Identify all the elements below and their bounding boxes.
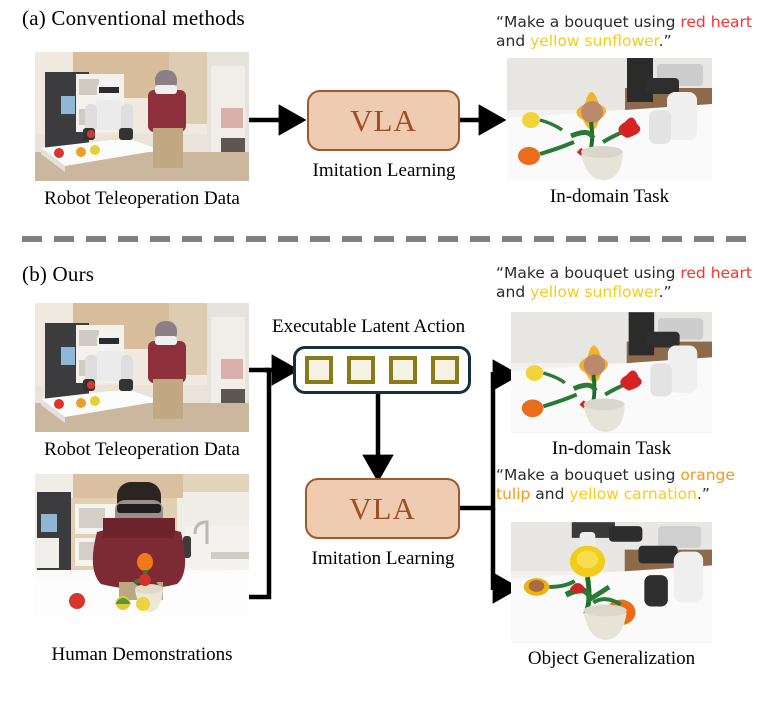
latent-action-cell bbox=[389, 356, 417, 384]
panel-b-robot-photo bbox=[35, 303, 249, 432]
prompt-b1-seg-3: yellow sunflower bbox=[530, 283, 659, 301]
prompt-a-seg-2: and bbox=[496, 32, 530, 50]
human-demonstration-scene bbox=[35, 474, 249, 618]
arrow-b-human-stub bbox=[249, 370, 269, 597]
panel-a-vla-sublabel: Imitation Learning bbox=[294, 160, 474, 182]
section-divider bbox=[22, 236, 762, 242]
prompt-b1-seg-2: and bbox=[496, 283, 530, 301]
panel-b-result-caption-generalization: Object Generalization bbox=[511, 648, 712, 670]
prompt-a-seg-1: red heart bbox=[680, 13, 752, 31]
prompt-b2-seg-3: yellow carnation bbox=[569, 485, 697, 503]
in-domain-result-scene bbox=[507, 58, 712, 181]
panel-a-vla-box: VLA bbox=[307, 90, 460, 151]
panel-b-human-caption: Human Demonstrations bbox=[35, 644, 249, 666]
panel-b-result-photo-generalization bbox=[511, 522, 712, 643]
panel-a-title: (a) Conventional methods bbox=[22, 6, 245, 31]
prompt-b1-seg-1: red heart bbox=[680, 264, 752, 282]
prompt-b1-seg-0: “Make a bouquet using bbox=[496, 264, 680, 282]
panel-b-prompt-indomain: “Make a bouquet using red heart and yell… bbox=[496, 264, 768, 302]
robot-teleoperation-scene bbox=[35, 52, 249, 181]
panel-a-prompt: “Make a bouquet using red heart and yell… bbox=[496, 13, 768, 51]
latent-action-label: Executable Latent Action bbox=[272, 316, 465, 338]
figure-root: (a) Conventional methods bbox=[0, 0, 768, 702]
panel-a-vla-label: VLA bbox=[350, 105, 417, 136]
panel-a-result-photo bbox=[507, 58, 712, 181]
panel-b-result-photo-indomain bbox=[511, 312, 712, 433]
panel-b-vla-sublabel: Imitation Learning bbox=[292, 548, 474, 570]
panel-b-result-caption-indomain: In-domain Task bbox=[511, 438, 712, 460]
latent-action-cell bbox=[431, 356, 459, 384]
prompt-b1-seg-4: .” bbox=[659, 283, 672, 301]
panel-b-human-photo bbox=[35, 474, 249, 618]
prompt-b2-seg-2: and bbox=[530, 485, 569, 503]
latent-action-cell bbox=[347, 356, 375, 384]
latent-action-box bbox=[293, 346, 471, 394]
latent-action-cell bbox=[305, 356, 333, 384]
panel-b-title: (b) Ours bbox=[22, 262, 94, 287]
panel-a-input-caption: Robot Teleoperation Data bbox=[35, 188, 249, 210]
panel-b-vla-label: VLA bbox=[349, 493, 416, 524]
panel-b-robot-caption: Robot Teleoperation Data bbox=[35, 439, 249, 461]
in-domain-result-scene-b bbox=[511, 312, 712, 433]
prompt-b2-seg-4: .” bbox=[697, 485, 710, 503]
prompt-a-seg-0: “Make a bouquet using bbox=[496, 13, 680, 31]
prompt-b2-seg-0: “Make a bouquet using bbox=[496, 466, 680, 484]
prompt-a-seg-3: yellow sunflower bbox=[530, 32, 659, 50]
robot-teleoperation-scene-b bbox=[35, 303, 249, 432]
panel-a-input-photo bbox=[35, 52, 249, 181]
object-generalization-scene bbox=[511, 522, 712, 643]
panel-a-result-caption: In-domain Task bbox=[507, 186, 712, 208]
panel-b-prompt-generalization: “Make a bouquet using orange tulip and y… bbox=[496, 466, 768, 504]
prompt-a-seg-4: .” bbox=[659, 32, 672, 50]
panel-b-vla-box: VLA bbox=[305, 478, 460, 539]
